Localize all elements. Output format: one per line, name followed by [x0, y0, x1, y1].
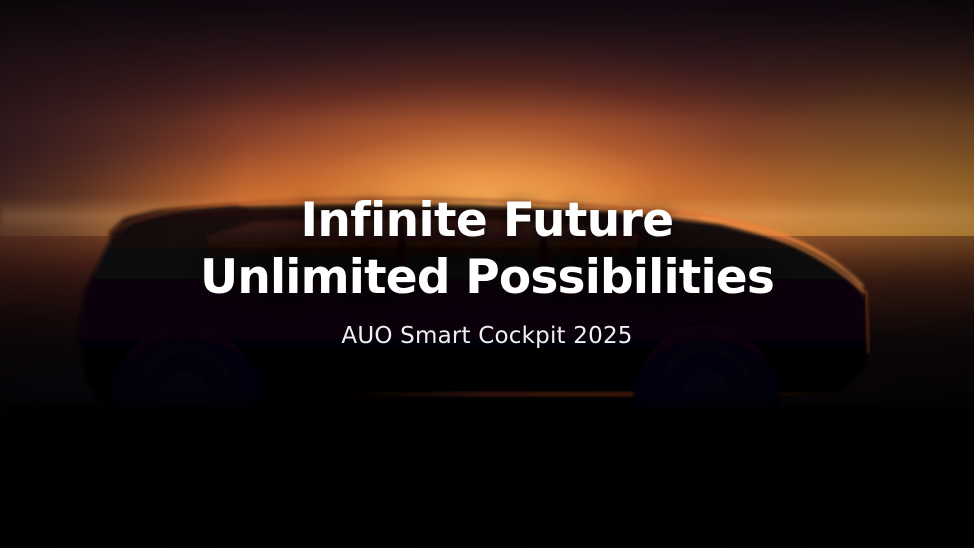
title-overlay: Infinite Future Unlimited Possibilities …	[0, 0, 974, 548]
subtitle: AUO Smart Cockpit 2025	[341, 323, 632, 349]
presentation-slide: Infinite Future Unlimited Possibilities …	[0, 0, 974, 548]
headline-line-2: Unlimited Possibilities	[200, 249, 774, 306]
headline-line-1: Infinite Future	[301, 193, 674, 248]
headline: Infinite Future Unlimited Possibilities	[200, 192, 774, 306]
